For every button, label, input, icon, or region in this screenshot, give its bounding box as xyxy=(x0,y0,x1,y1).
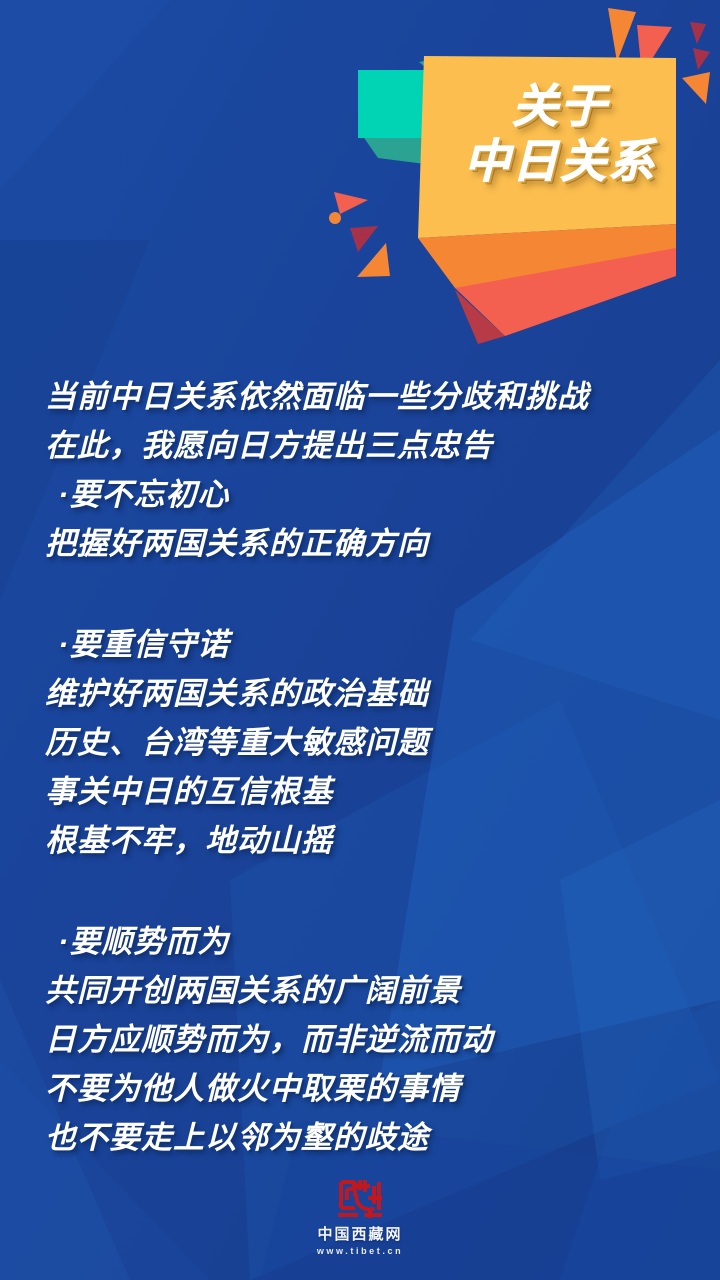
copy-block-advice-three: ·要顺势而为 共同开创两国关系的广阔前景 日方应顺势而为，而非逆流而动 不要为他… xyxy=(0,917,720,1162)
triangle-darkred-right-icon xyxy=(690,22,706,44)
header-decoration-group xyxy=(0,0,720,360)
copy-line: 把握好两国关系的正确方向 xyxy=(0,519,720,568)
copy-line: 日方应顺势而为，而非逆流而动 xyxy=(0,1015,720,1064)
triangle-darkred-left-icon xyxy=(350,226,378,252)
copy-line: 根基不牢，地动山摇 xyxy=(0,816,720,865)
triangle-salmon-left-icon xyxy=(334,192,368,214)
body-copy: 当前中日关系依然面临一些分歧和挑战 在此，我愿向日方提出三点忠告 ·要不忘初心 … xyxy=(0,372,720,1162)
copy-line: 事关中日的互信根基 xyxy=(0,767,720,816)
triangle-darkred-small-icon xyxy=(693,48,710,70)
copy-line: 在此，我愿向日方提出三点忠告 xyxy=(0,421,720,470)
brand-name: 中国西藏网 xyxy=(0,1226,720,1244)
triangle-orange-right-icon xyxy=(682,72,710,104)
poster-root: 关于 中日关系 当前中日关系依然面临一些分歧和挑战 在此，我愿向日方提出三点忠告… xyxy=(0,0,720,1280)
triangle-orange-left-icon xyxy=(357,243,390,277)
copy-line: 历史、台湾等重大敏感问题 xyxy=(0,718,720,767)
triangle-orange-top-icon xyxy=(608,8,636,62)
copy-line: 当前中日关系依然面临一些分歧和挑战 xyxy=(0,372,720,421)
dot-orange-icon xyxy=(329,212,341,224)
copy-line-bullet: ·要重信守诺 xyxy=(0,620,720,669)
ribbon-banner-yellow-icon xyxy=(418,56,676,238)
copy-line: 不要为他人做火中取栗的事情 xyxy=(0,1064,720,1113)
brand-url: www.tibet.cn xyxy=(0,1245,720,1258)
copy-block-intro: 当前中日关系依然面临一些分歧和挑战 在此，我愿向日方提出三点忠告 ·要不忘初心 … xyxy=(0,372,720,568)
footer-brand: 中国西藏网 www.tibet.cn xyxy=(0,1178,720,1258)
copy-line: 共同开创两国关系的广阔前景 xyxy=(0,966,720,1015)
copy-line-bullet: ·要顺势而为 xyxy=(0,917,720,966)
copy-block-advice-two: ·要重信守诺 维护好两国关系的政治基础 历史、台湾等重大敏感问题 事关中日的互信… xyxy=(0,620,720,865)
copy-line-bullet: ·要不忘初心 xyxy=(0,470,720,519)
copy-line: 维护好两国关系的政治基础 xyxy=(0,669,720,718)
teal-square-icon xyxy=(358,70,428,138)
copy-line: 也不要走上以邻为壑的歧途 xyxy=(0,1113,720,1162)
tibet-seal-logo-icon xyxy=(334,1178,386,1222)
